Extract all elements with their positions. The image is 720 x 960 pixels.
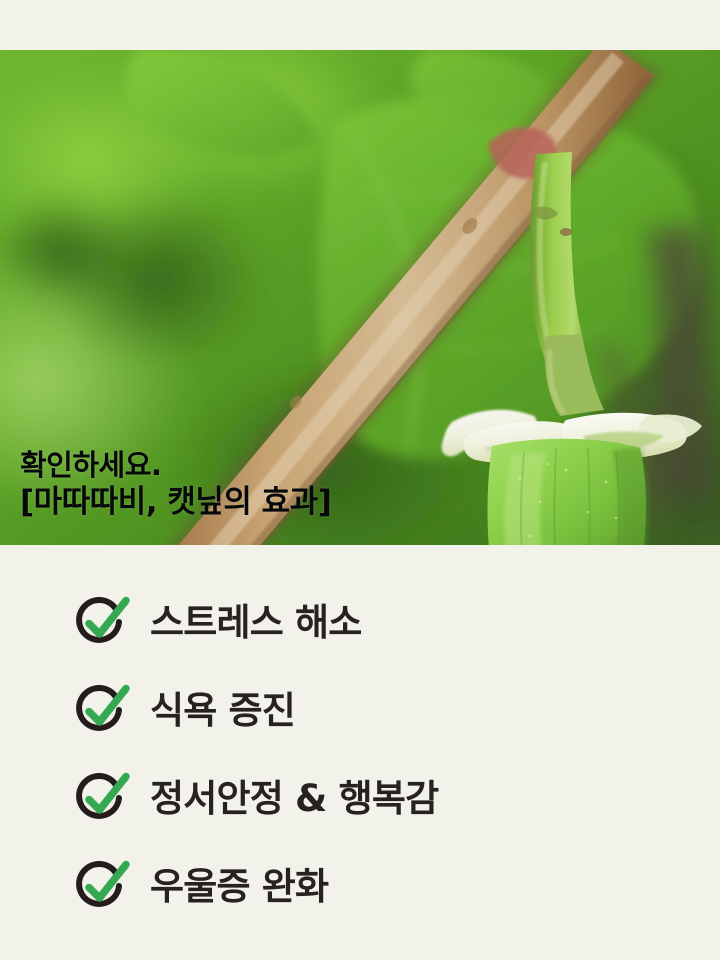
hero-caption-line-2: [마따따비, 캣닢의 효과] [20,486,331,519]
check-circle-icon [70,680,134,740]
benefit-list: 스트레스 해소 식욕 증진 정서안정 & 행복감 [0,545,720,960]
benefit-label: 우울증 완화 [150,868,328,905]
check-circle-icon [70,768,134,828]
check-circle-icon [70,856,134,916]
benefit-item-1: 스트레스 해소 [0,578,720,666]
promo-page: 확인하세요. [마따따비, 캣닢의 효과] 스트레스 해소 식욕 증진 [0,0,720,960]
hero-caption-line-1: 확인하세요. [20,450,331,481]
top-spacer-band [0,0,720,50]
hero-caption: 확인하세요. [마따따비, 캣닢의 효과] [20,450,331,519]
benefit-label: 정서안정 & 행복감 [150,780,438,817]
benefit-item-4: 우울증 완화 [0,842,720,930]
benefit-label: 스트레스 해소 [150,604,362,641]
benefit-item-3: 정서안정 & 행복감 [0,754,720,842]
benefit-label: 식욕 증진 [150,692,295,729]
check-circle-icon [70,592,134,652]
hero-photo: 확인하세요. [마따따비, 캣닢의 효과] [0,50,720,545]
benefit-item-2: 식욕 증진 [0,666,720,754]
